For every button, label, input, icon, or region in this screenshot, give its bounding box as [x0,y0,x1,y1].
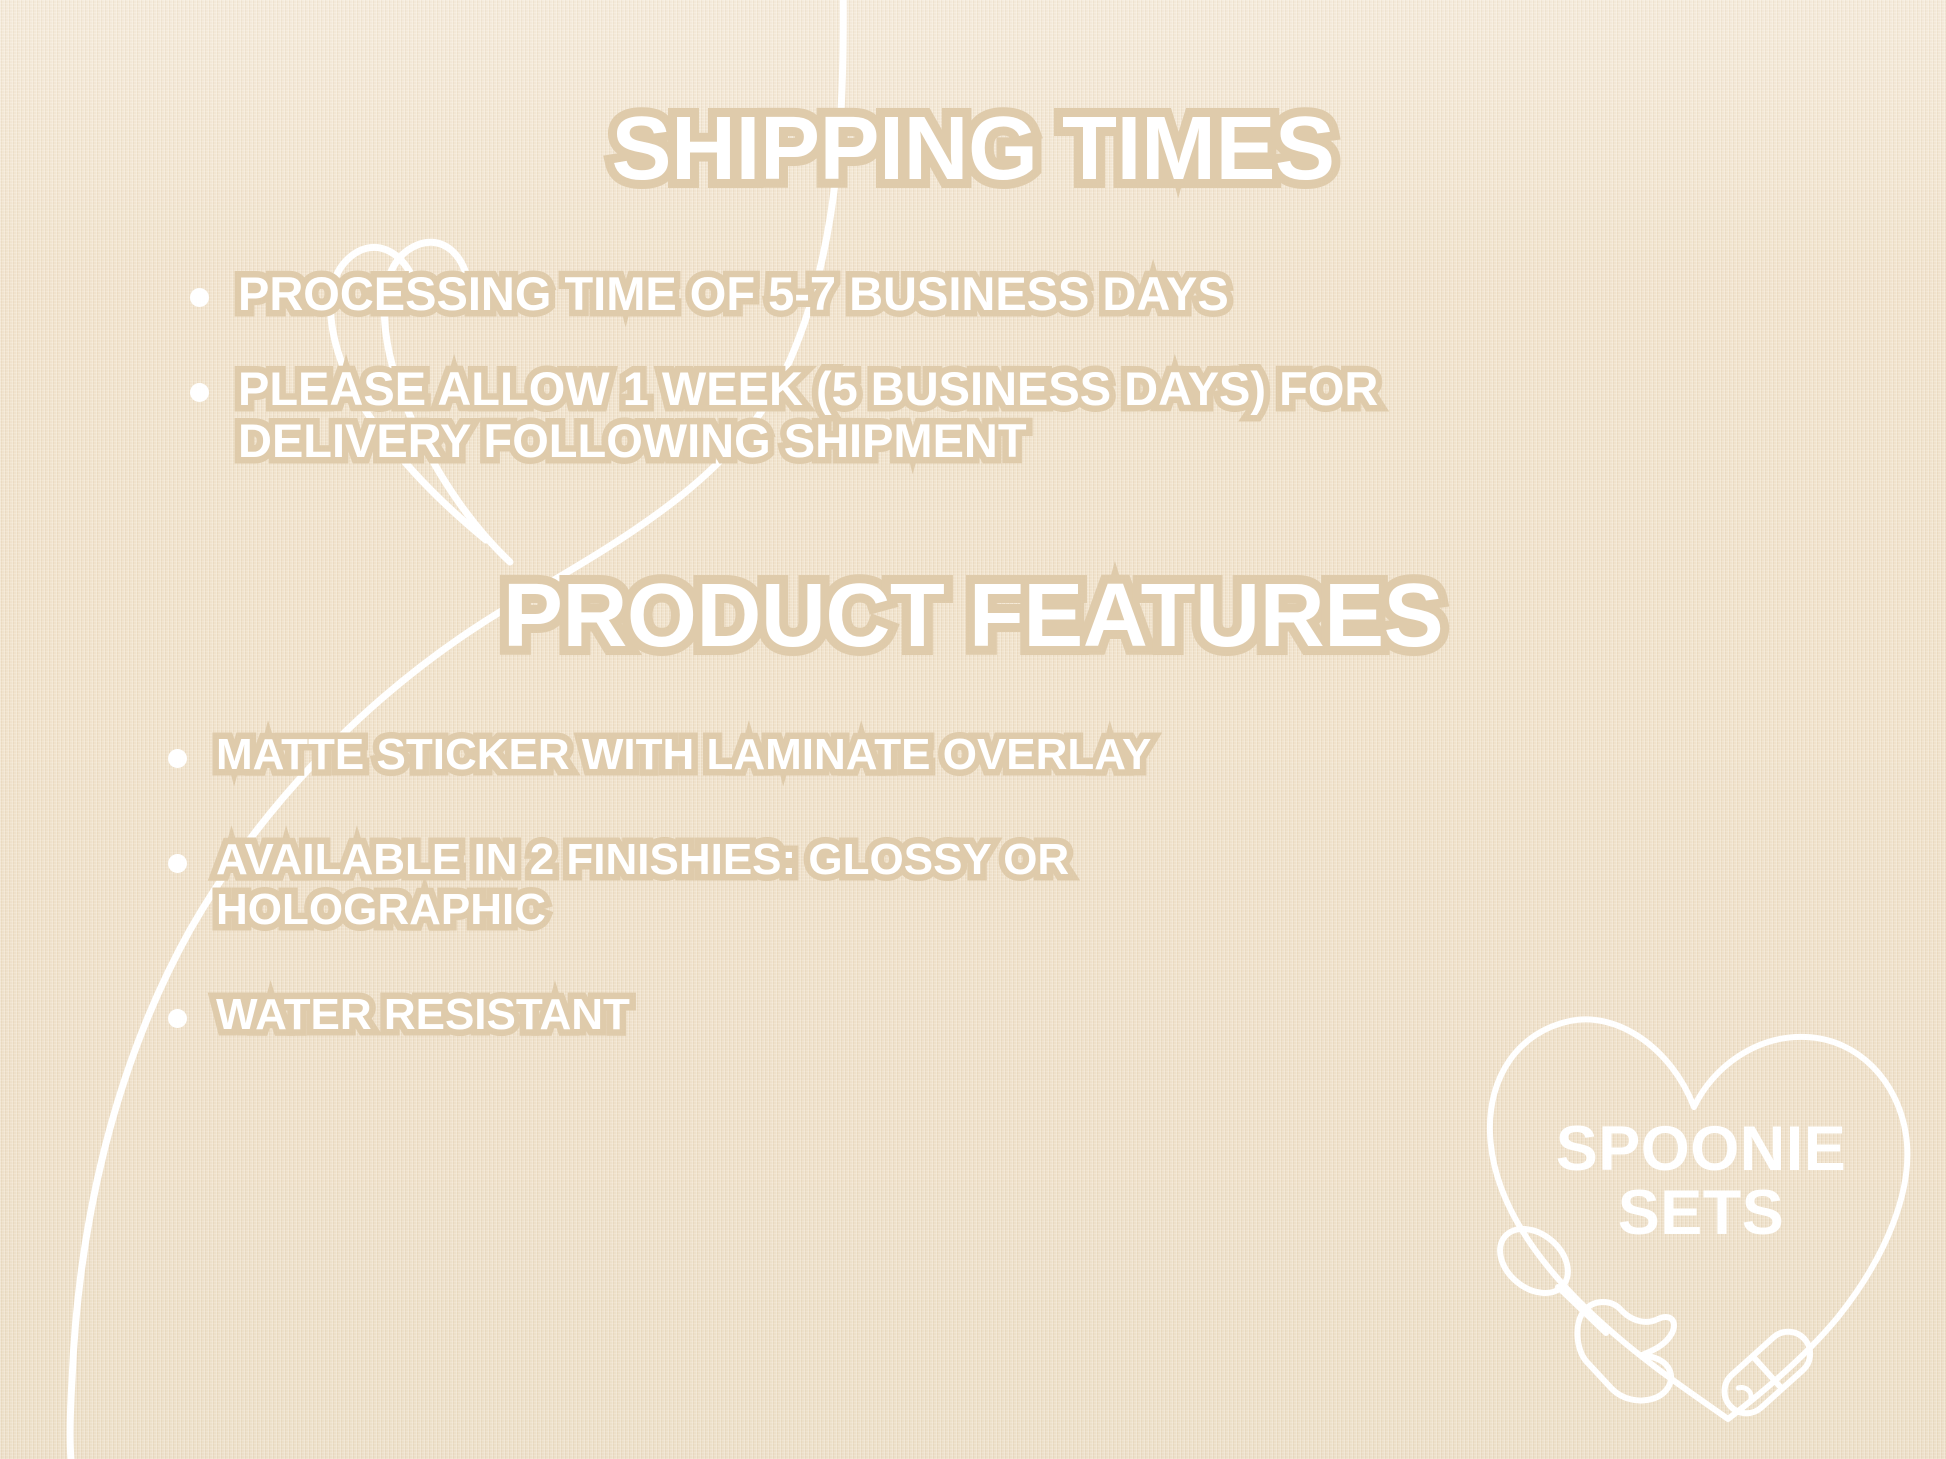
list-item: WATER RESISTANT [168,990,1498,1039]
bullet-line-1: MATTE STICKER WITH LAMINATE OVERLAY [216,730,1151,779]
bullet-line-1: PLEASE ALLOW 1 WEEK (5 BUSINESS DAYS) FO… [238,362,1378,415]
bullet-dot-icon [190,383,209,402]
bullet-line-1: PROCESSING TIME OF 5-7 BUSINESS DAYS [238,267,1229,320]
poster-canvas: SHIPPING TIMES PROCESSING TIME OF 5-7 BU… [0,0,1946,1459]
logo-artwork [1466,999,1936,1459]
bullet-line-2: DELIVERY FOLLOWING SHIPMENT [238,415,1480,468]
section-heading-product-features: PRODUCT FEATURES [0,565,1946,668]
list-item: PLEASE ALLOW 1 WEEK (5 BUSINESS DAYS) FO… [190,363,1480,468]
bullet-dot-icon [190,288,209,307]
brand-logo: SPOONIE SETS [1466,999,1936,1459]
section-heading-shipping-times: SHIPPING TIMES [0,98,1946,201]
list-item: MATTE STICKER WITH LAMINATE OVERLAY [168,730,1498,779]
bullet-line-1: WATER RESISTANT [216,990,630,1039]
list-item: PROCESSING TIME OF 5-7 BUSINESS DAYS [190,268,1480,321]
shipping-times-list: PROCESSING TIME OF 5-7 BUSINESS DAYS PLE… [190,268,1480,510]
bullet-dot-icon [168,854,187,873]
product-features-list: MATTE STICKER WITH LAMINATE OVERLAY AVAI… [168,730,1498,1095]
pill-capsule-icon [1715,1323,1819,1423]
bullet-dot-icon [168,1009,187,1028]
bullet-line-1: AVAILABLE IN 2 FINISHIES: GLOSSY OR [216,835,1069,884]
list-item: AVAILABLE IN 2 FINISHIES: GLOSSY OR HOLO… [168,835,1498,934]
bullet-line-2: HOLOGRAPHIC [216,885,1498,934]
heart-outline-icon [1490,1019,1907,1419]
bullet-dot-icon [168,749,187,768]
